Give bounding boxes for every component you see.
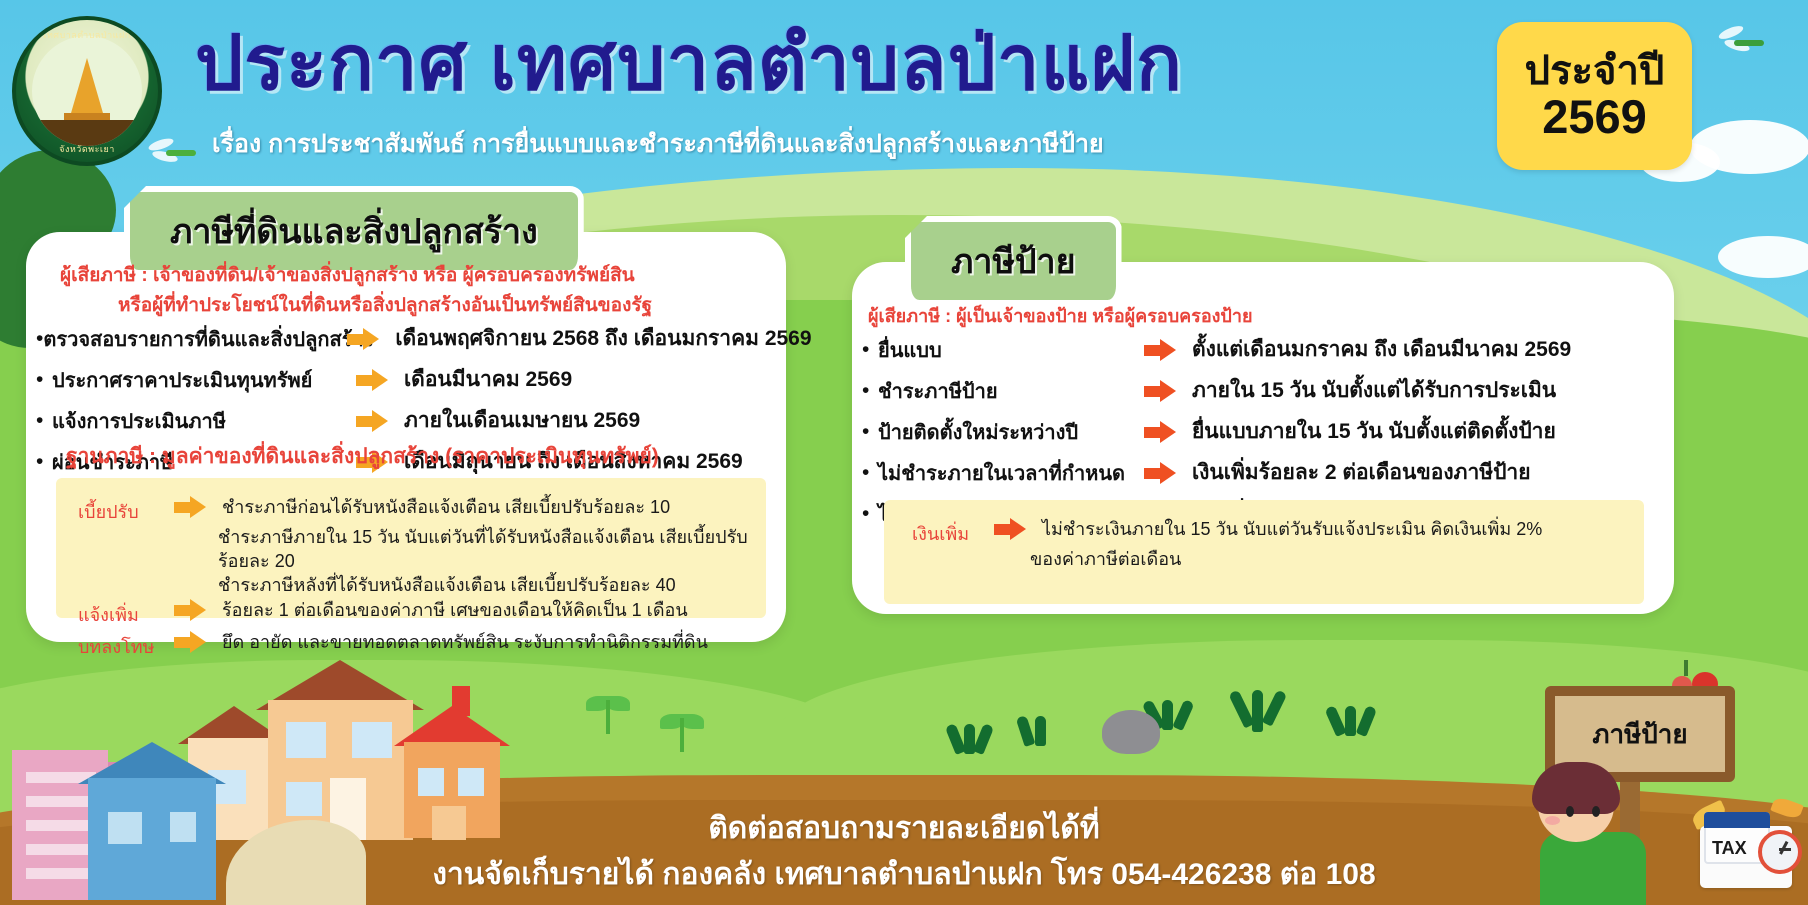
house-roof-icon [394, 706, 510, 746]
signboard-text: ภาษีป้าย [1592, 714, 1687, 755]
bullet-icon: • [36, 451, 52, 472]
arrow-right-icon [1144, 339, 1178, 361]
arrow-right-icon [994, 518, 1028, 540]
note-row: เบี้ยปรับ ชำระภาษีก่อนได้รับหนังสือแจ้งเ… [78, 496, 756, 526]
bullet-icon: • [862, 380, 878, 401]
list-item: • ประกาศราคาประเมินทุนทรัพย์ เดือนมีนาคม… [36, 363, 796, 396]
note-text: ไม่ชำระเงินภายใน 15 วัน นับแต่วันรับแจ้ง… [1042, 518, 1542, 542]
cloud-icon [1718, 236, 1808, 278]
list-item: • ไม่ชำระภายในเวลาที่กำหนด เงินเพิ่มร้อย… [862, 456, 1662, 489]
arrow-right-icon [356, 410, 390, 432]
page-title: ประกาศ เทศบาลตำบลป่าแฝก [195, 26, 1183, 102]
note-key: แจ้งเพิ่ม [78, 599, 170, 629]
bullet-icon: • [862, 339, 878, 360]
bullet-icon: • [36, 410, 52, 431]
note-text: ชำระภาษีหลังที่ได้รับหนังสือแจ้งเตือน เส… [218, 574, 756, 598]
list-item: • ป้ายติดตั้งใหม่ระหว่างปี ยื่นแบบภายใน … [862, 415, 1662, 448]
land-tax-chip-title: ภาษีที่ดินและสิ่งปลูกสร้าง [124, 186, 584, 270]
note-row: เงินเพิ่ม ไม่ชำระเงินภายใน 15 วัน นับแต่… [912, 518, 1634, 548]
note-text: ร้อยละ 1 ต่อเดือนของค่าภาษี เศษของเดือนใ… [222, 599, 688, 623]
schedule-value: ยื่นแบบภายใน 15 วัน นับตั้งแต่ติดตั้งป้า… [1192, 415, 1556, 448]
schedule-value: ภายในเดือนเมษายน 2569 [404, 404, 640, 437]
schedule-label: ยื่นแบบ [878, 334, 1140, 366]
schedule-label: ชำระภาษีป้าย [878, 375, 1140, 407]
note-text: ชำระภาษีภายใน 15 วัน นับแต่วันที่ได้รับห… [218, 526, 756, 574]
logo-bottom-text: จังหวัดพะเยา [59, 142, 115, 156]
window-icon [352, 722, 392, 758]
sign-tax-penalty-note: เงินเพิ่ม ไม่ชำระเงินภายใน 15 วัน นับแต่… [884, 500, 1644, 604]
note-key: เงินเพิ่ม [912, 518, 990, 548]
schedule-label: ไม่ชำระภายในเวลาที่กำหนด [878, 457, 1140, 489]
contact-details: งานจัดเก็บรายได้ กองคลัง เทศบาลตำบลป่าแฝ… [0, 851, 1808, 898]
arrow-right-icon [1144, 421, 1178, 443]
list-item: • ตรวจสอบรายการที่ดินและสิ่งปลูกสร้าง เด… [36, 322, 796, 355]
schedule-label: ประกาศราคาประเมินทุนทรัพย์ [52, 364, 352, 396]
note-text: ชำระภาษีก่อนได้รับหนังสือแจ้งเตือน เสียเ… [222, 496, 670, 520]
bullet-icon: • [36, 328, 43, 349]
arrow-right-icon [174, 496, 208, 518]
logo-top-text: เทศบาลตำบลป่าแฝก [43, 28, 130, 42]
note-text: ของค่าภาษีต่อเดือน [1030, 548, 1634, 572]
list-item: • ชำระภาษีป้าย ภายใน 15 วัน นับตั้งแต่ได… [862, 374, 1662, 407]
year-badge: ประจำปี 2569 [1497, 22, 1692, 170]
schedule-value: เดือนพฤศจิกายน 2568 ถึง เดือนมกราคม 2569 [395, 322, 811, 355]
note-row: แจ้งเพิ่ม ร้อยละ 1 ต่อเดือนของค่าภาษี เศ… [78, 599, 756, 629]
list-item: • ยื่นแบบ ตั้งแต่เดือนมกราคม ถึง เดือนมี… [862, 333, 1662, 366]
window-icon [418, 768, 444, 796]
arrow-right-icon [1144, 462, 1178, 484]
schedule-label: แจ้งการประเมินภาษี [52, 405, 352, 437]
poster-root: เทศบาลตำบลป่าแฝก จังหวัดพะเยา ประกาศ เทศ… [0, 0, 1808, 905]
arrow-right-icon [356, 369, 390, 391]
page-subtitle: เรื่อง การประชาสัมพันธ์ การยื่นแบบและชำร… [212, 124, 1104, 164]
schedule-value: เดือนมีนาคม 2569 [404, 363, 572, 396]
arrow-right-icon [1144, 380, 1178, 402]
note-text: ยึด อายัด และขายทอดตลาดทรัพย์สิน ระงับกา… [222, 631, 708, 655]
arrow-right-icon [174, 599, 208, 621]
window-icon [458, 768, 484, 796]
schedule-value: ตั้งแต่เดือนมกราคม ถึง เดือนมีนาคม 2569 [1192, 333, 1571, 366]
year-label: ประจำปี [1525, 50, 1665, 92]
note-key: เบี้ยปรับ [78, 496, 170, 526]
arrow-right-icon [174, 631, 208, 653]
note-row: บทลงโทษ ยึด อายัด และขายทอดตลาดทรัพย์สิน… [78, 631, 756, 661]
schedule-label: ตรวจสอบรายการที่ดินและสิ่งปลูกสร้าง [43, 323, 343, 355]
logo-ring-text: เทศบาลตำบลป่าแฝก จังหวัดพะเยา [16, 20, 158, 162]
year-value: 2569 [1542, 92, 1647, 141]
bullet-icon: • [862, 503, 878, 524]
sign-tax-chip-title: ภาษีป้าย [905, 216, 1122, 300]
municipality-logo: เทศบาลตำบลป่าแฝก จังหวัดพะเยา [12, 16, 162, 166]
schedule-value: เงินเพิ่มร้อยละ 2 ต่อเดือนของภาษีป้าย [1192, 456, 1531, 489]
bullet-icon: • [862, 421, 878, 442]
land-tax-penalty-note: เบี้ยปรับ ชำระภาษีก่อนได้รับหนังสือแจ้งเ… [56, 478, 766, 618]
window-icon [286, 722, 326, 758]
schedule-label: ป้ายติดตั้งใหม่ระหว่างปี [878, 416, 1140, 448]
land-tax-payer-line1: ผู้เสียภาษี : เจ้าของที่ดิน/เจ้าของสิ่งป… [60, 262, 635, 291]
tax-base-text: ฐานภาษี : มูลค่าของที่ดินและสิ่งปลูกสร้า… [66, 440, 659, 473]
contact-heading: ติดต่อสอบถามรายละเอียดได้ที่ [0, 805, 1808, 852]
rock-icon [1102, 710, 1160, 754]
schedule-value: ภายใน 15 วัน นับตั้งแต่ได้รับการประเมิน [1192, 374, 1556, 407]
apple-stem-icon [1684, 660, 1688, 676]
note-key: บทลงโทษ [78, 631, 170, 661]
bullet-icon: • [862, 462, 878, 483]
arrow-right-icon [347, 328, 381, 350]
list-item: • แจ้งการประเมินภาษี ภายในเดือนเมษายน 25… [36, 404, 796, 437]
bullet-icon: • [36, 369, 52, 390]
sign-tax-payer-line: ผู้เสียภาษี : ผู้เป็นเจ้าของป้าย หรือผู้… [868, 303, 1253, 330]
land-tax-payer-line2: หรือผู้ที่ทำประโยชน์ในที่ดินหรือสิ่งปลูก… [118, 292, 652, 321]
